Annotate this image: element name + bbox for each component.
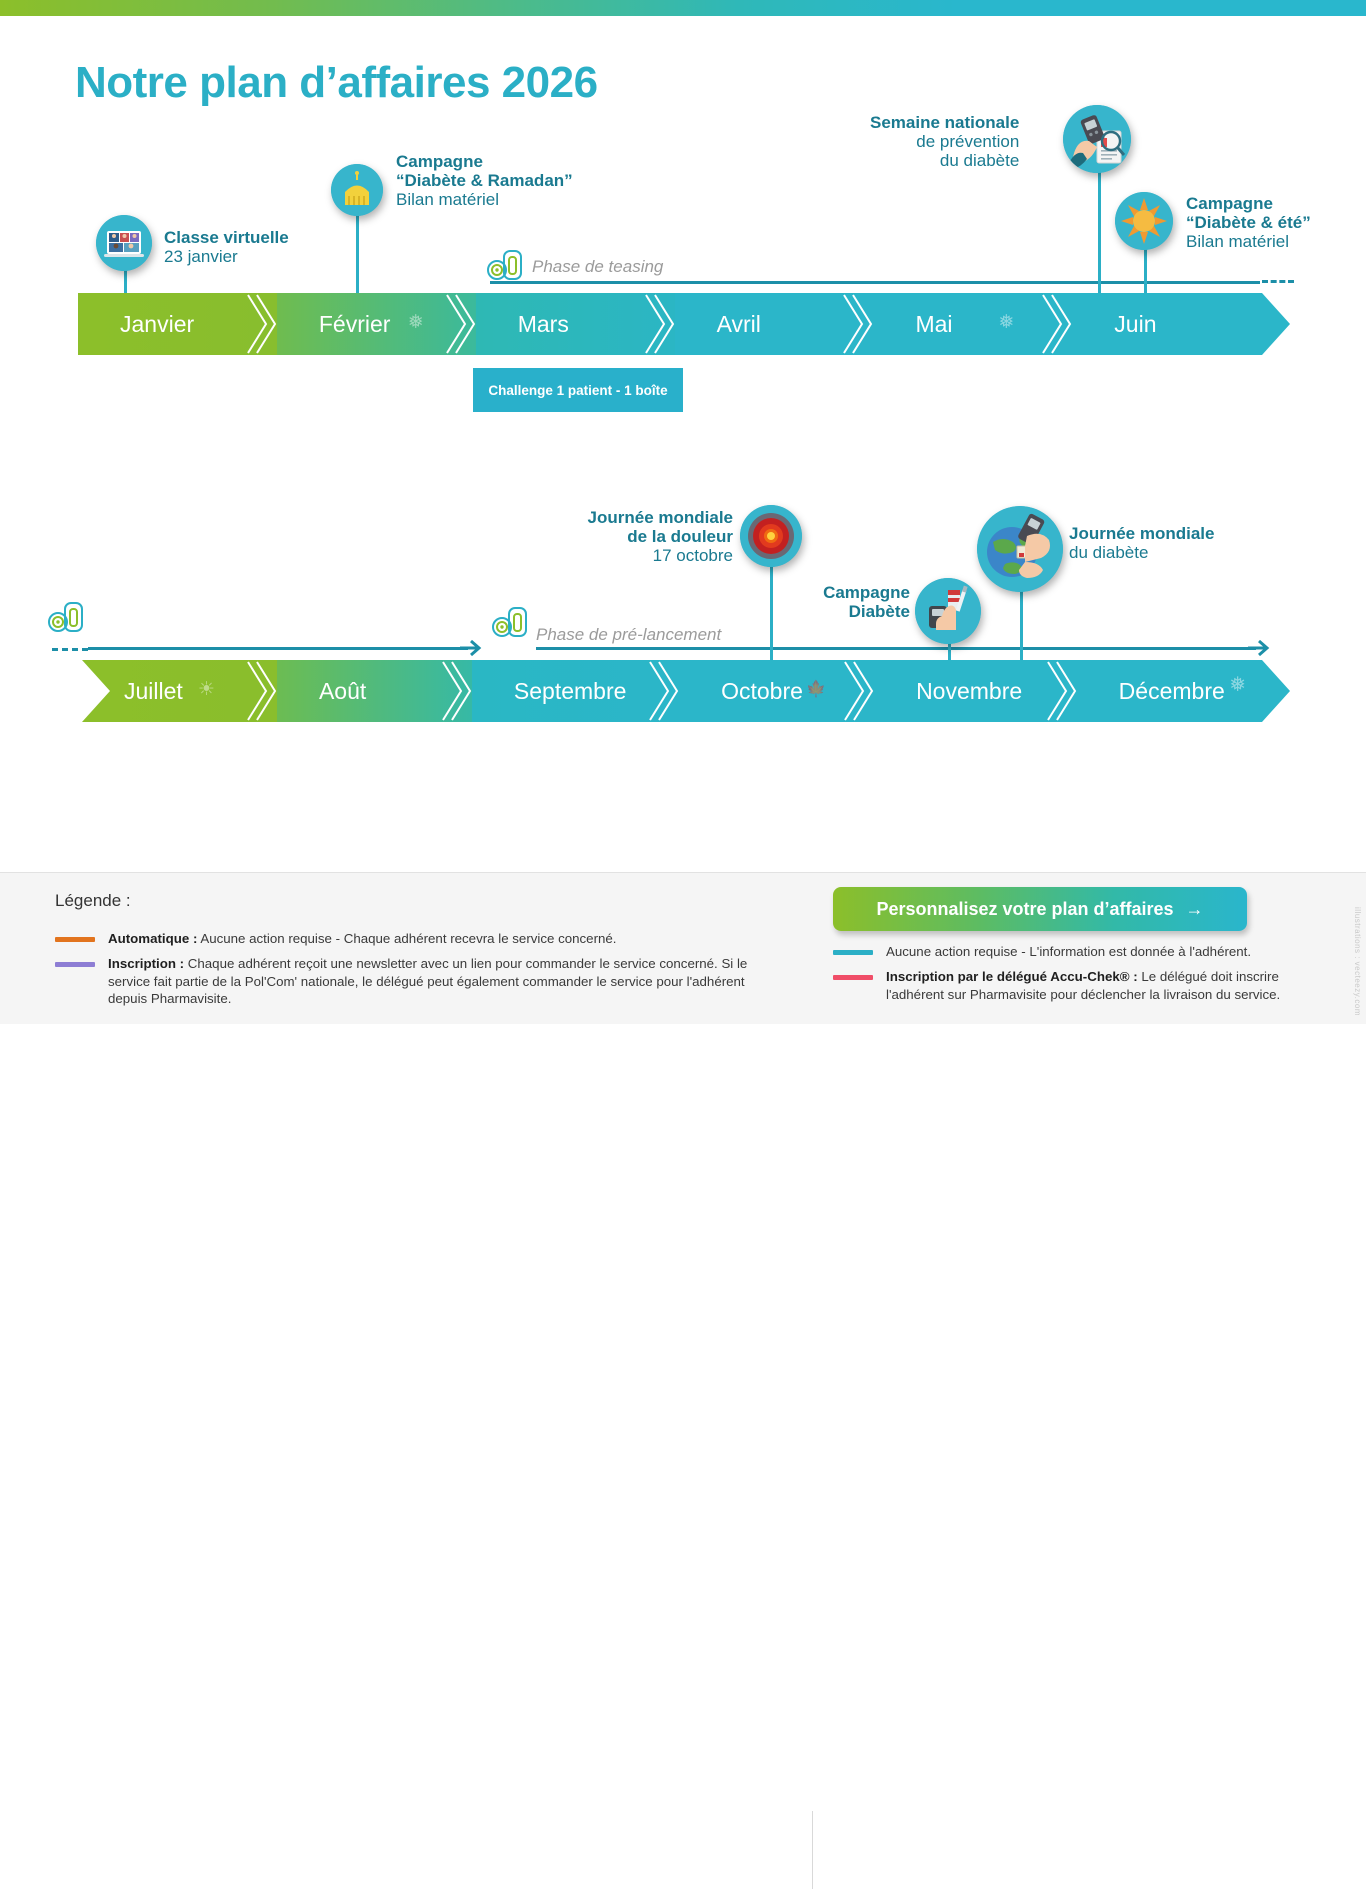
header-gradient-bar xyxy=(0,0,1366,16)
event-title: Journée mondiale xyxy=(1069,524,1214,543)
arrow-right-icon: → xyxy=(1186,899,1204,920)
snowflake-icon: ❅ xyxy=(1229,672,1246,697)
phase-line-prelancement-b xyxy=(536,647,1256,650)
phase-label-prelancement: Phase de pré-lancement xyxy=(536,625,721,645)
pin-stem xyxy=(1098,164,1101,296)
timeline-semester-2: Juillet ☀ Août Septembre Octobre 🍁 Novem… xyxy=(82,660,1290,722)
sun-small-icon: ☀ xyxy=(198,678,215,701)
chevron-divider-icon xyxy=(244,660,278,722)
month-segment-decembre[interactable]: Décembre ❅ xyxy=(1077,660,1290,722)
event-title-2: Diabète xyxy=(800,602,910,621)
phase-label-teasing: Phase de teasing xyxy=(532,257,663,277)
phase-line-prelancement-a xyxy=(88,647,468,650)
event-title: Classe virtuelle xyxy=(164,228,289,247)
legend-divider xyxy=(812,1811,813,1889)
phase-line-prelancement-dashed xyxy=(52,648,88,651)
legend-swatch-purple xyxy=(55,962,95,967)
month-label: Février xyxy=(319,311,391,338)
legend-label: Inscription : xyxy=(108,956,184,971)
chevron-divider-icon xyxy=(443,293,477,355)
month-segment-aout[interactable]: Août xyxy=(277,660,472,722)
month-label: Août xyxy=(319,678,366,705)
cta-label: Personnalisez votre plan d’affaires xyxy=(876,899,1173,920)
event-label-journee-diabete: Journée mondiale du diabète xyxy=(1069,524,1214,562)
month-label: Janvier xyxy=(120,311,194,338)
legend-label: Inscription par le délégué Accu-Chek® : xyxy=(886,969,1138,984)
legend-label: Automatique : xyxy=(108,931,197,946)
timeline-semester-1: Janvier Février ❅ Mars Avril Mai ❅ Juin xyxy=(78,293,1290,355)
event-title: Campagne xyxy=(1186,194,1311,213)
event-title: Journée mondiale xyxy=(555,508,733,527)
event-subtitle-2: du diabète xyxy=(870,151,1019,170)
legend-swatch-orange xyxy=(55,937,95,942)
chevron-divider-icon xyxy=(841,660,875,722)
arrow-right-icon xyxy=(1248,637,1270,659)
event-label-semaine-prevention: Semaine nationale de prévention du diabè… xyxy=(870,113,1019,170)
snowflake-icon: ❅ xyxy=(408,311,424,334)
month-label: Octobre xyxy=(721,678,803,705)
month-label: Mai xyxy=(915,311,952,338)
event-subtitle: de prévention xyxy=(870,132,1019,151)
legend-description: Chaque adhérent reçoit une newsletter av… xyxy=(108,956,747,1006)
chevron-divider-icon xyxy=(840,293,874,355)
diabetes-kit-icon[interactable] xyxy=(915,578,981,644)
month-label: Septembre xyxy=(514,678,627,705)
legend-item-aucune-action: Aucune action requise - L'information es… xyxy=(833,943,1333,961)
event-subtitle: Bilan matériel xyxy=(1186,232,1311,251)
personalize-plan-button[interactable]: Personnalisez votre plan d’affaires → xyxy=(833,887,1247,931)
month-label: Juillet xyxy=(124,678,183,705)
chevron-divider-icon xyxy=(439,660,473,722)
event-label-classe-virtuelle: Classe virtuelle 23 janvier xyxy=(164,228,289,266)
legend-text: Inscription par le délégué Accu-Chek® : … xyxy=(886,968,1333,1003)
glucometer-report-icon[interactable] xyxy=(1063,105,1131,173)
event-title-2: “Diabète & Ramadan” xyxy=(396,171,573,190)
leaf-icon: 🍁 xyxy=(806,679,826,699)
chevron-divider-icon xyxy=(642,293,676,355)
month-segment-mars[interactable]: Mars xyxy=(476,293,675,355)
month-label: Mars xyxy=(518,311,569,338)
challenge-callout: Challenge 1 patient - 1 boîte xyxy=(473,368,683,412)
month-segment-septembre[interactable]: Septembre xyxy=(472,660,679,722)
legend-item-inscription: Inscription : Chaque adhérent reçoit une… xyxy=(55,955,755,1008)
glucometer-strip-icon xyxy=(492,605,530,639)
sun-icon[interactable] xyxy=(1115,192,1173,250)
legend-item-inscription-delegue: Inscription par le délégué Accu-Chek® : … xyxy=(833,968,1333,1003)
month-label: Avril xyxy=(717,311,761,338)
legend-description: Aucune action requise - Chaque adhérent … xyxy=(197,931,616,946)
pin-stem xyxy=(1144,246,1147,296)
pin-stem xyxy=(356,215,359,296)
month-segment-juin[interactable]: Juin xyxy=(1072,293,1290,355)
event-label-campagne-diabete: Campagne Diabète xyxy=(800,583,910,621)
event-subtitle: Bilan matériel xyxy=(396,190,573,209)
month-label: Juin xyxy=(1114,311,1156,338)
snowflake-icon: ❅ xyxy=(998,311,1014,334)
event-title: Campagne xyxy=(396,152,573,171)
month-label: Novembre xyxy=(916,678,1022,705)
event-label-journee-douleur: Journée mondiale de la douleur 17 octobr… xyxy=(555,508,733,565)
glucometer-strip-icon xyxy=(48,600,86,634)
event-subtitle: 23 janvier xyxy=(164,247,289,266)
mosque-icon[interactable] xyxy=(331,164,383,216)
chevron-divider-icon xyxy=(244,293,278,355)
month-segment-janvier[interactable]: Janvier xyxy=(78,293,277,355)
pin-stem xyxy=(770,560,773,663)
legend-item-automatique: Automatique : Aucune action requise - Ch… xyxy=(55,930,755,948)
phase-line-teasing-dashed xyxy=(1262,280,1294,283)
virtual-classroom-icon[interactable] xyxy=(96,215,152,271)
pin-stem xyxy=(124,268,127,296)
month-segment-mai[interactable]: Mai ❅ xyxy=(873,293,1072,355)
event-title: Semaine nationale xyxy=(870,113,1019,132)
chevron-divider-icon xyxy=(1044,660,1078,722)
month-label: Décembre xyxy=(1119,678,1225,705)
page-title: Notre plan d’affaires 2026 xyxy=(75,58,598,108)
month-segment-fevrier[interactable]: Février ❅ xyxy=(277,293,476,355)
glucometer-strip-icon xyxy=(487,248,525,282)
month-segment-juillet[interactable]: Juillet ☀ xyxy=(82,660,277,722)
arrow-right-icon xyxy=(460,637,482,659)
month-segment-novembre[interactable]: Novembre xyxy=(874,660,1077,722)
event-label-campagne-ramadan: Campagne “Diabète & Ramadan” Bilan matér… xyxy=(396,152,573,209)
chevron-divider-icon xyxy=(1039,293,1073,355)
timeline-bar: Janvier Février ❅ Mars Avril Mai ❅ Juin xyxy=(78,293,1290,355)
world-diabetes-icon[interactable] xyxy=(977,506,1063,592)
pain-target-icon[interactable] xyxy=(740,505,802,567)
event-subtitle: du diabète xyxy=(1069,543,1214,562)
pin-stem xyxy=(1020,580,1023,663)
watermark-credit: illustrations : vecteezy.com xyxy=(1353,907,1362,1016)
event-label-campagne-ete: Campagne “Diabète & été” Bilan matériel xyxy=(1186,194,1311,251)
legend-title: Légende : xyxy=(55,891,131,911)
legend-swatch-pink xyxy=(833,975,873,980)
event-title-2: “Diabète & été” xyxy=(1186,213,1311,232)
month-segment-octobre[interactable]: Octobre 🍁 xyxy=(679,660,874,722)
legend-text: Inscription : Chaque adhérent reçoit une… xyxy=(108,955,755,1008)
event-title: Campagne xyxy=(800,583,910,602)
chevron-divider-icon xyxy=(646,660,680,722)
event-title-2: de la douleur xyxy=(555,527,733,546)
legend-text: Automatique : Aucune action requise - Ch… xyxy=(108,930,617,948)
timeline-bar: Juillet ☀ Août Septembre Octobre 🍁 Novem… xyxy=(82,660,1290,722)
month-segment-avril[interactable]: Avril xyxy=(675,293,874,355)
legend-description: Aucune action requise - L'information es… xyxy=(886,944,1251,959)
legend-swatch-teal xyxy=(833,950,873,955)
legend-text: Aucune action requise - L'information es… xyxy=(886,943,1251,961)
event-subtitle: 17 octobre xyxy=(555,546,733,565)
